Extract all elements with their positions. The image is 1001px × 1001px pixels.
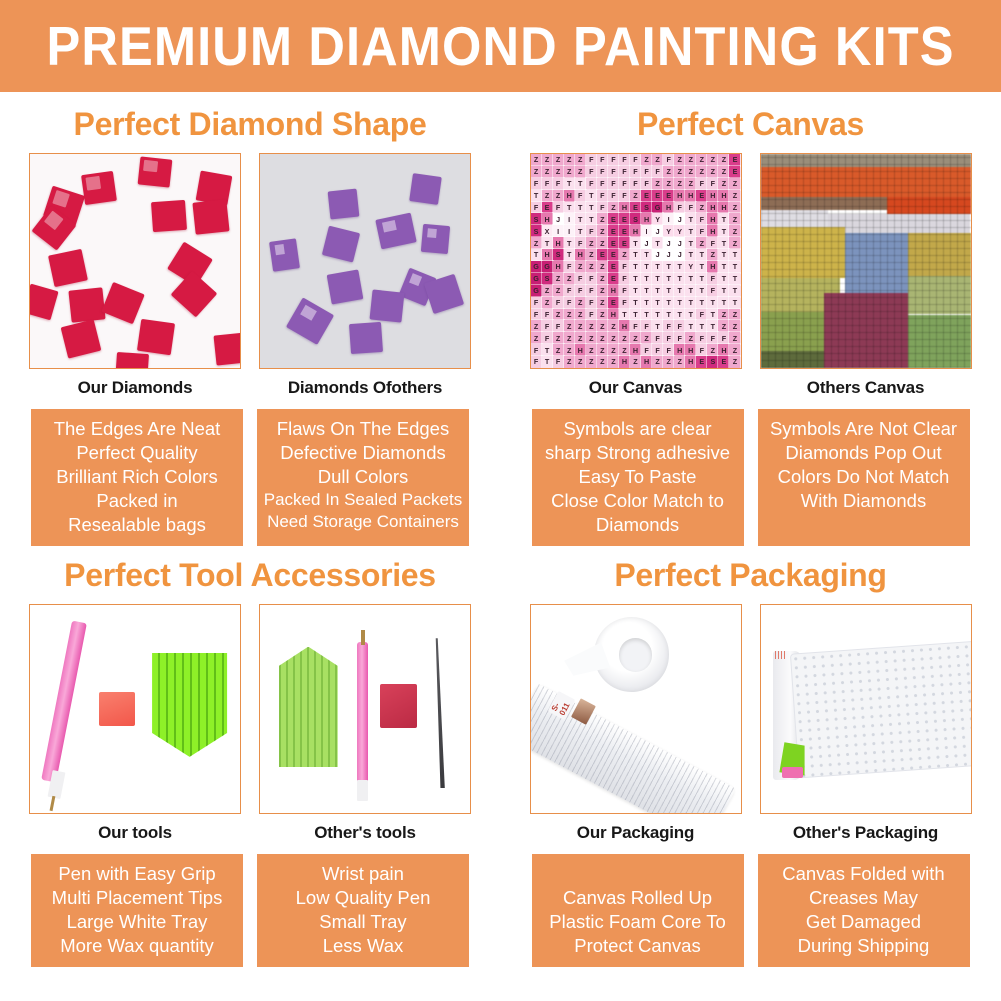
canvas-symbol-cell: T [674, 261, 685, 273]
canvas-symbol-cell: H [553, 261, 564, 273]
canvas-symbol-cell: Z [674, 178, 685, 190]
canvas-symbol-cell: T [729, 297, 740, 309]
bullet-item: Large White Tray [33, 910, 241, 934]
canvas-symbol-cell: T [630, 249, 641, 261]
caption-other-tools: Other's tools [259, 814, 471, 843]
canvas-symbol-cell: T [564, 249, 575, 261]
canvas-symbol-cell: Z [630, 190, 641, 202]
card-other-tools: Other's tools [259, 604, 471, 843]
canvas-symbol-cell: Z [597, 356, 608, 368]
canvas-symbol-cell: H [608, 309, 619, 321]
bullet-item: Plastic Foam Core To [534, 910, 742, 934]
canvas-symbol-cell: Z [597, 285, 608, 297]
bullet-item: Creases May [760, 886, 968, 910]
canvas-symbol-cell: Z [575, 332, 586, 344]
canvas-symbol-cell: F [586, 297, 597, 309]
bullet-item: Low Quality Pen [259, 886, 467, 910]
canvas-symbol-cell: T [630, 309, 641, 321]
canvas-symbol-cell: F [652, 344, 663, 356]
canvas-symbol-cell: Z [586, 344, 597, 356]
canvas-symbol-cell: Z [564, 154, 575, 166]
canvas-symbol-cell: Z [729, 320, 740, 332]
canvas-symbol-cell: F [542, 178, 553, 190]
canvas-symbol-cell: T [685, 249, 696, 261]
canvas-symbol-cell: H [564, 190, 575, 202]
blurry-multicolor-canvas [761, 154, 971, 368]
canvas-symbol-cell: H [718, 344, 729, 356]
canvas-symbol-cell: Z [542, 190, 553, 202]
canvas-symbol-cell: F [685, 202, 696, 214]
canvas-symbol-cell: Z [542, 285, 553, 297]
canvas-symbol-cell: Z [608, 332, 619, 344]
canvas-symbol-cell: Z [564, 273, 575, 285]
canvas-symbol-cell: F [553, 178, 564, 190]
canvas-symbol-cell: E [608, 237, 619, 249]
canvas-symbol-cell: H [674, 190, 685, 202]
canvas-symbol-cell: E [729, 166, 740, 178]
canvas-symbol-cell: G [531, 273, 542, 285]
canvas-symbol-cell: Z [718, 154, 729, 166]
canvas-symbol-cell: F [586, 309, 597, 321]
canvas-symbol-cell: E [608, 225, 619, 237]
canvas-symbol-cell: F [586, 225, 597, 237]
canvas-symbol-cell: F [608, 190, 619, 202]
canvas-symbol-cell: T [630, 237, 641, 249]
bullet-item: Wrist pain [259, 862, 467, 886]
canvas-symbol-cell: Z [718, 320, 729, 332]
canvas-symbol-cell: J [674, 249, 685, 261]
canvas-symbol-cell: H [685, 190, 696, 202]
canvas-symbol-cell: H [542, 249, 553, 261]
section-title-packaging: Perfect Packaging [500, 539, 1001, 594]
canvas-symbol-cell: T [630, 261, 641, 273]
canvas-symbol-cell: F [542, 332, 553, 344]
canvas-symbol-cell: H [707, 213, 718, 225]
canvas-symbol-cell: T [575, 213, 586, 225]
canvas-symbol-cell: Z [597, 261, 608, 273]
bullet-item: Symbols Are Not Clear [760, 417, 968, 441]
canvas-symbol-cell: Z [729, 344, 740, 356]
canvas-symbol-cell: T [696, 297, 707, 309]
canvas-symbol-cell: F [597, 166, 608, 178]
canvas-symbol-cell: T [674, 273, 685, 285]
image-our-tools [29, 604, 241, 814]
canvas-symbol-cell: Z [586, 332, 597, 344]
canvas-symbol-cell: Z [718, 309, 729, 321]
canvas-symbol-cell: Z [564, 309, 575, 321]
section-title-diamond-shape: Perfect Diamond Shape [0, 92, 500, 143]
canvas-symbol-cell: Z [564, 166, 575, 178]
canvas-symbol-cell: F [641, 166, 652, 178]
canvas-symbol-cell: E [608, 261, 619, 273]
canvas-symbol-cell: E [663, 190, 674, 202]
canvas-symbol-cell: S [553, 249, 564, 261]
bullet-item: Canvas Folded with [760, 862, 968, 886]
canvas-symbol-cell: F [586, 154, 597, 166]
canvas-symbol-cell: T [652, 297, 663, 309]
bullet-item: During Shipping [760, 934, 968, 958]
canvas-symbol-cell: T [696, 320, 707, 332]
canvas-symbol-cell: F [553, 320, 564, 332]
canvas-symbol-cell: H [685, 356, 696, 368]
canvas-symbol-cell: Z [542, 154, 553, 166]
image-others-canvas [760, 153, 972, 369]
canvas-symbol-cell: Z [575, 297, 586, 309]
canvas-symbol-cell: E [608, 273, 619, 285]
canvas-symbol-cell: Z [729, 309, 740, 321]
canvas-symbol-cell: Z [674, 154, 685, 166]
canvas-symbol-cell: F [663, 344, 674, 356]
bullet-item: Small Tray [259, 910, 467, 934]
canvas-symbol-cell: T [685, 320, 696, 332]
canvas-symbol-cell: E [597, 249, 608, 261]
bullet-item: Pen with Easy Grip [33, 862, 241, 886]
section-packaging: Perfect Packaging S-011 Our Packaging [500, 539, 1001, 967]
canvas-symbol-cell: F [652, 332, 663, 344]
caption-our-diamonds: Our Diamonds [29, 369, 241, 398]
canvas-symbol-cell: Z [608, 344, 619, 356]
canvas-symbol-cell: F [619, 273, 630, 285]
card-our-diamonds: Our Diamonds [29, 153, 241, 398]
canvas-symbol-cell: F [553, 202, 564, 214]
canvas-symbol-cell: F [619, 261, 630, 273]
canvas-symbol-cell: Z [729, 178, 740, 190]
canvas-symbol-cell: T [729, 273, 740, 285]
canvas-symbol-cell: F [586, 178, 597, 190]
canvas-symbol-cell: Z [663, 356, 674, 368]
canvas-symbol-cell: Z [696, 237, 707, 249]
canvas-symbol-cell: T [641, 273, 652, 285]
bullet-item: Perfect Quality [33, 441, 241, 465]
canvas-symbol-cell: T [564, 237, 575, 249]
canvas-symbol-cell: T [663, 309, 674, 321]
canvas-symbol-cell: H [641, 213, 652, 225]
canvas-symbol-cell: F [564, 285, 575, 297]
canvas-symbol-cell: S [531, 225, 542, 237]
canvas-symbol-cell: F [619, 285, 630, 297]
canvas-symbol-cell: F [564, 297, 575, 309]
canvas-symbol-cell: H [619, 356, 630, 368]
canvas-symbol-cell: T [685, 309, 696, 321]
canvas-symbol-cell: T [718, 213, 729, 225]
canvas-symbol-cell: H [641, 356, 652, 368]
canvas-symbol-cell: Z [575, 166, 586, 178]
canvas-symbol-cell: Z [564, 344, 575, 356]
canvas-symbol-cell: T [685, 213, 696, 225]
canvas-symbol-cell: Z [663, 166, 674, 178]
canvas-symbol-cell: Z [685, 332, 696, 344]
bullet-item: Protect Canvas [534, 934, 742, 958]
canvas-symbol-cell: Z [608, 202, 619, 214]
canvas-symbol-cell: T [707, 297, 718, 309]
canvas-symbol-cell: F [663, 320, 674, 332]
canvas-symbol-cell: F [597, 178, 608, 190]
canvas-symbol-cell: T [641, 249, 652, 261]
canvas-symbol-cell: Z [575, 261, 586, 273]
canvas-symbol-cell: Z [553, 332, 564, 344]
canvas-symbol-cell: Z [597, 297, 608, 309]
canvas-symbol-cell: Z [575, 320, 586, 332]
canvas-symbol-cell: Z [696, 166, 707, 178]
canvas-symbol-cell: T [696, 249, 707, 261]
bullet-item: Dull Colors [259, 465, 467, 489]
canvas-symbol-cell: Z [608, 356, 619, 368]
canvas-symbol-cell: H [663, 202, 674, 214]
canvas-symbol-cell: T [685, 237, 696, 249]
canvas-symbol-cell: F [674, 332, 685, 344]
canvas-symbol-cell: F [674, 320, 685, 332]
canvas-symbol-cell: F [663, 332, 674, 344]
canvas-symbol-cell: T [575, 178, 586, 190]
canvas-symbol-cell: X [542, 225, 553, 237]
image-our-packaging: S-011 [530, 604, 742, 814]
bullets-our-canvas: Symbols are clear sharp Strong adhesive … [532, 409, 744, 546]
canvas-symbol-cell: T [718, 249, 729, 261]
canvas-symbol-cell: Z [652, 356, 663, 368]
canvas-symbol-cell: T [641, 309, 652, 321]
canvas-symbol-cell: Z [718, 166, 729, 178]
image-other-tools [259, 604, 471, 814]
canvas-symbol-cell: S [641, 202, 652, 214]
image-other-diamonds [259, 153, 471, 369]
canvas-symbol-cell: Z [729, 190, 740, 202]
canvas-symbol-cell: J [663, 237, 674, 249]
canvas-symbol-cell: T [729, 261, 740, 273]
bullet-item: sharp Strong adhesive [534, 441, 742, 465]
canvas-symbol-cell: T [663, 297, 674, 309]
canvas-symbol-cell: T [531, 249, 542, 261]
canvas-symbol-cell: S [630, 213, 641, 225]
bullet-item: Less Wax [259, 934, 467, 958]
canvas-symbol-cell: T [718, 273, 729, 285]
canvas-symbol-cell: F [696, 178, 707, 190]
canvas-symbol-cell: Z [707, 166, 718, 178]
canvas-symbol-cell: S [531, 213, 542, 225]
canvas-symbol-cell: F [707, 178, 718, 190]
canvas-symbol-cell: F [608, 154, 619, 166]
canvas-symbol-cell: S [707, 356, 718, 368]
canvas-symbol-cell: T [718, 297, 729, 309]
canvas-symbol-cell: G [542, 261, 553, 273]
canvas-symbol-cell: T [641, 285, 652, 297]
canvas-symbol-cell: F [597, 154, 608, 166]
canvas-symbol-cell: H [707, 202, 718, 214]
canvas-symbol-cell: Z [575, 309, 586, 321]
canvas-symbol-cell: T [663, 261, 674, 273]
canvas-symbol-cell: E [619, 213, 630, 225]
canvas-symbol-cell: T [542, 356, 553, 368]
canvas-symbol-cell: T [652, 261, 663, 273]
canvas-symbol-cell: J [674, 213, 685, 225]
canvas-symbol-cell: Z [586, 320, 597, 332]
canvas-symbol-cell: Z [696, 202, 707, 214]
canvas-symbol-cell: F [564, 261, 575, 273]
canvas-symbol-cell: T [542, 237, 553, 249]
card-other-diamonds: Diamonds Ofothers [259, 153, 471, 398]
canvas-symbol-cell: Z [619, 344, 630, 356]
canvas-symbol-cell: Z [597, 309, 608, 321]
canvas-symbol-cell: Z [531, 154, 542, 166]
canvas-symbol-cell: H [542, 213, 553, 225]
canvas-symbol-cell: T [674, 285, 685, 297]
bullet-item: Packed in [33, 489, 241, 513]
caption-other-diamonds: Diamonds Ofothers [259, 369, 471, 398]
canvas-symbol-cell: F [586, 285, 597, 297]
canvas-symbol-cell: T [718, 261, 729, 273]
canvas-symbol-cell: Z [531, 237, 542, 249]
canvas-symbol-cell: Z [663, 178, 674, 190]
bullet-item: Symbols are clear [534, 417, 742, 441]
canvas-symbol-cell: H [575, 344, 586, 356]
canvas-symbol-cell: F [575, 190, 586, 202]
canvas-symbol-cell: F [531, 297, 542, 309]
bullet-item: Colors Do Not Match [760, 465, 968, 489]
canvas-symbol-cell: Z [553, 166, 564, 178]
canvas-symbol-cell: T [696, 261, 707, 273]
canvas-symbol-cell: Z [619, 332, 630, 344]
card-our-packaging: S-011 Our Packaging [530, 604, 742, 843]
canvas-symbol-cell: H [685, 344, 696, 356]
canvas-symbol-cell: H [575, 249, 586, 261]
canvas-symbol-cell: F [542, 320, 553, 332]
canvas-symbol-cell: F [641, 178, 652, 190]
canvas-symbol-cell: Z [597, 344, 608, 356]
green-tray-pen-wax-tweezers-photo [260, 605, 470, 813]
canvas-symbol-cell: Z [553, 344, 564, 356]
canvas-symbol-cell: E [630, 202, 641, 214]
caption-our-tools: Our tools [29, 814, 241, 843]
canvas-symbol-cell: Z [641, 154, 652, 166]
canvas-symbol-cell: T [696, 285, 707, 297]
bullet-item: Close Color Match to [534, 489, 742, 513]
canvas-symbol-cell: T [564, 202, 575, 214]
bullet-item: Resealable bags [33, 513, 241, 537]
bullet-item: Easy To Paste [534, 465, 742, 489]
canvas-symbol-cell: T [707, 320, 718, 332]
image-our-diamonds [29, 153, 241, 369]
canvas-symbol-cell: E [608, 249, 619, 261]
pink-pen-wax-green-tray-photo [30, 605, 240, 813]
canvas-symbol-cell: Z [531, 332, 542, 344]
canvas-symbol-cell: T [663, 285, 674, 297]
canvas-symbol-cell: Z [718, 178, 729, 190]
section-tools: Perfect Tool Accessories Our tools [0, 539, 500, 967]
canvas-symbol-cell: T [630, 273, 641, 285]
canvas-symbol-cell: T [652, 273, 663, 285]
canvas-symbol-cell: I [663, 213, 674, 225]
canvas-symbol-cell: Z [597, 213, 608, 225]
canvas-symbol-cell: F [553, 297, 564, 309]
canvas-symbol-cell: H [619, 320, 630, 332]
canvas-symbol-cell: Z [652, 154, 663, 166]
canvas-symbol-cell: E [542, 202, 553, 214]
canvas-symbol-cell: T [674, 297, 685, 309]
canvas-symbol-cell: Z [597, 273, 608, 285]
canvas-symbol-cell: Z [674, 356, 685, 368]
canvas-symbol-cell: Z [586, 249, 597, 261]
canvas-symbol-cell: F [597, 190, 608, 202]
canvas-symbol-cell: G [652, 202, 663, 214]
bubble-mailer-folded-canvas-photo [761, 605, 971, 813]
canvas-symbol-cell: G [531, 261, 542, 273]
canvas-symbol-cell: T [586, 213, 597, 225]
canvas-symbol-cell: Z [696, 154, 707, 166]
canvas-symbol-cell: H [630, 344, 641, 356]
canvas-symbol-cell: F [707, 273, 718, 285]
canvas-symbol-cell: E [619, 237, 630, 249]
canvas-symbol-cell: Z [575, 154, 586, 166]
canvas-symbol-cell: Z [630, 356, 641, 368]
canvas-symbol-cell: Z [729, 237, 740, 249]
canvas-symbol-cell: T [652, 309, 663, 321]
canvas-symbol-cell: T [729, 249, 740, 261]
canvas-symbol-cell: F [652, 166, 663, 178]
canvas-symbol-cell: T [718, 285, 729, 297]
canvas-symbol-cell: Z [707, 344, 718, 356]
caption-others-canvas: Others Canvas [760, 369, 972, 398]
canvas-symbol-cell: F [619, 190, 630, 202]
canvas-symbol-cell: H [630, 225, 641, 237]
canvas-symbol-cell: E [718, 356, 729, 368]
canvas-symbol-cell: F [696, 309, 707, 321]
canvas-symbol-cell: I [641, 225, 652, 237]
bullet-item: Get Damaged [760, 910, 968, 934]
canvas-symbol-cell: T [586, 202, 597, 214]
canvas-symbol-cell: F [575, 285, 586, 297]
canvas-symbol-cell: Z [597, 237, 608, 249]
card-other-packaging: Other's Packaging [760, 604, 972, 843]
canvas-symbol-cell: T [652, 320, 663, 332]
canvas-symbol-cell: Z [575, 356, 586, 368]
canvas-symbol-cell: J [663, 249, 674, 261]
canvas-symbol-cell: Y [674, 225, 685, 237]
canvas-symbol-cell: F [575, 273, 586, 285]
canvas-symbol-cell: H [608, 285, 619, 297]
canvas-symbol-cell: Z [608, 320, 619, 332]
canvas-symbol-cell: F [608, 166, 619, 178]
canvas-symbol-cell: Y [652, 213, 663, 225]
canvas-symbol-cell: E [641, 190, 652, 202]
canvas-symbol-cell: F [542, 309, 553, 321]
canvas-symbol-cell: Z [597, 332, 608, 344]
canvas-symbol-cell: T [564, 178, 575, 190]
canvas-symbol-cell: F [619, 166, 630, 178]
purple-square-diamonds-photo [260, 154, 470, 368]
canvas-symbol-cell: E [619, 225, 630, 237]
comparison-grid: Perfect Diamond Shape [0, 92, 1001, 967]
canvas-symbol-cell: F [586, 166, 597, 178]
red-square-diamonds-photo [30, 154, 240, 368]
canvas-symbol-cell: Z [531, 166, 542, 178]
canvas-symbol-cell: T [718, 225, 729, 237]
canvas-symbol-cell: Z [729, 332, 740, 344]
canvas-symbol-cell: E [608, 213, 619, 225]
canvas-symbol-cell: Z [729, 213, 740, 225]
canvas-symbol-cell: T [674, 309, 685, 321]
canvas-symbol-cell: Z [685, 178, 696, 190]
canvas-symbol-cell: F [707, 285, 718, 297]
canvas-symbol-cell: E [608, 297, 619, 309]
canvas-symbol-cell: Z [553, 309, 564, 321]
header-banner: PREMIUM DIAMOND PAINTING KITS [0, 0, 1001, 92]
bullet-item: Multi Placement Tips [33, 886, 241, 910]
canvas-symbol-cell: Z [597, 320, 608, 332]
bullet-item: Canvas Rolled Up [534, 886, 742, 910]
page-title: PREMIUM DIAMOND PAINTING KITS [46, 14, 954, 78]
section-diamond-shape: Perfect Diamond Shape [0, 92, 500, 539]
canvas-symbol-cell: F [707, 332, 718, 344]
canvas-symbol-cell: Z [685, 166, 696, 178]
